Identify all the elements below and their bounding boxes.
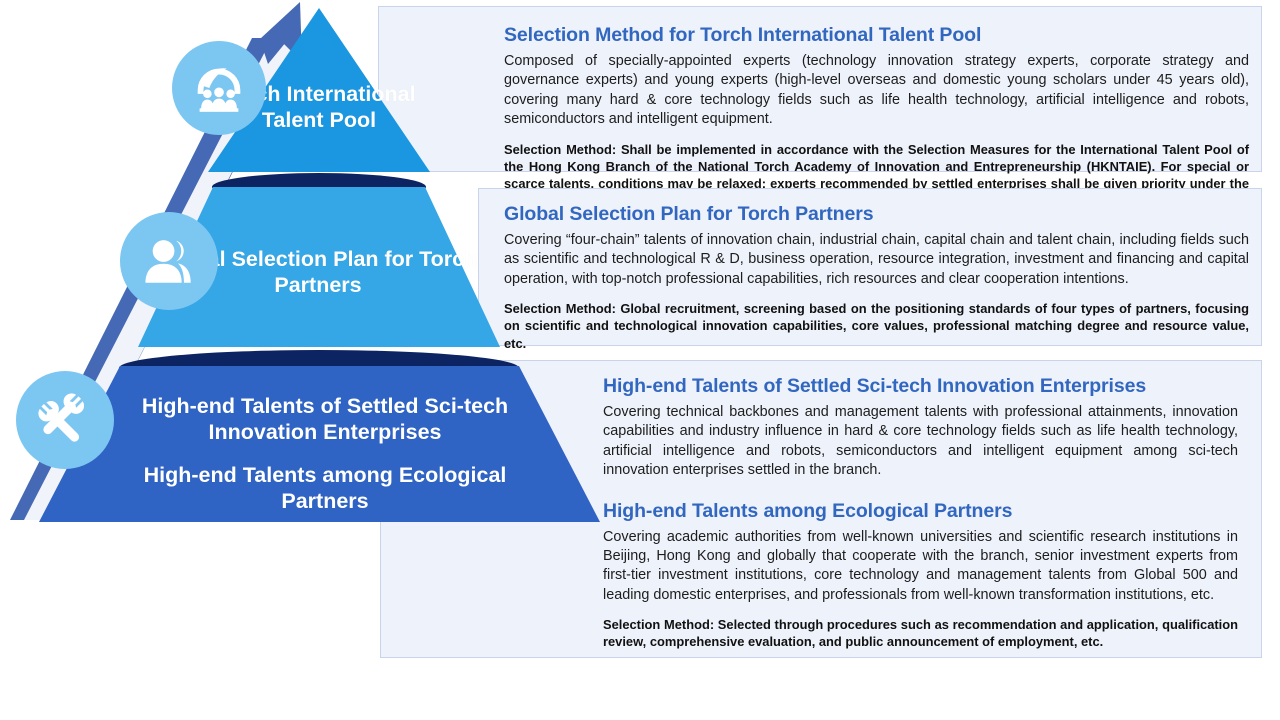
tier-bottom-label-b: High-end Talents among Ecological Partne… bbox=[110, 462, 540, 514]
icon-bubble-bottom bbox=[16, 371, 114, 469]
tier-bottom-label-a: High-end Talents of Settled Sci-tech Inn… bbox=[110, 393, 540, 445]
infographic-stage: Selection Method for Torch International… bbox=[0, 0, 1280, 720]
crossed-wrenches-icon bbox=[35, 390, 95, 450]
people-under-arch-icon bbox=[188, 57, 250, 119]
icon-bubble-middle bbox=[120, 212, 218, 310]
icon-bubble-top bbox=[172, 41, 266, 135]
two-people-icon bbox=[140, 232, 198, 290]
